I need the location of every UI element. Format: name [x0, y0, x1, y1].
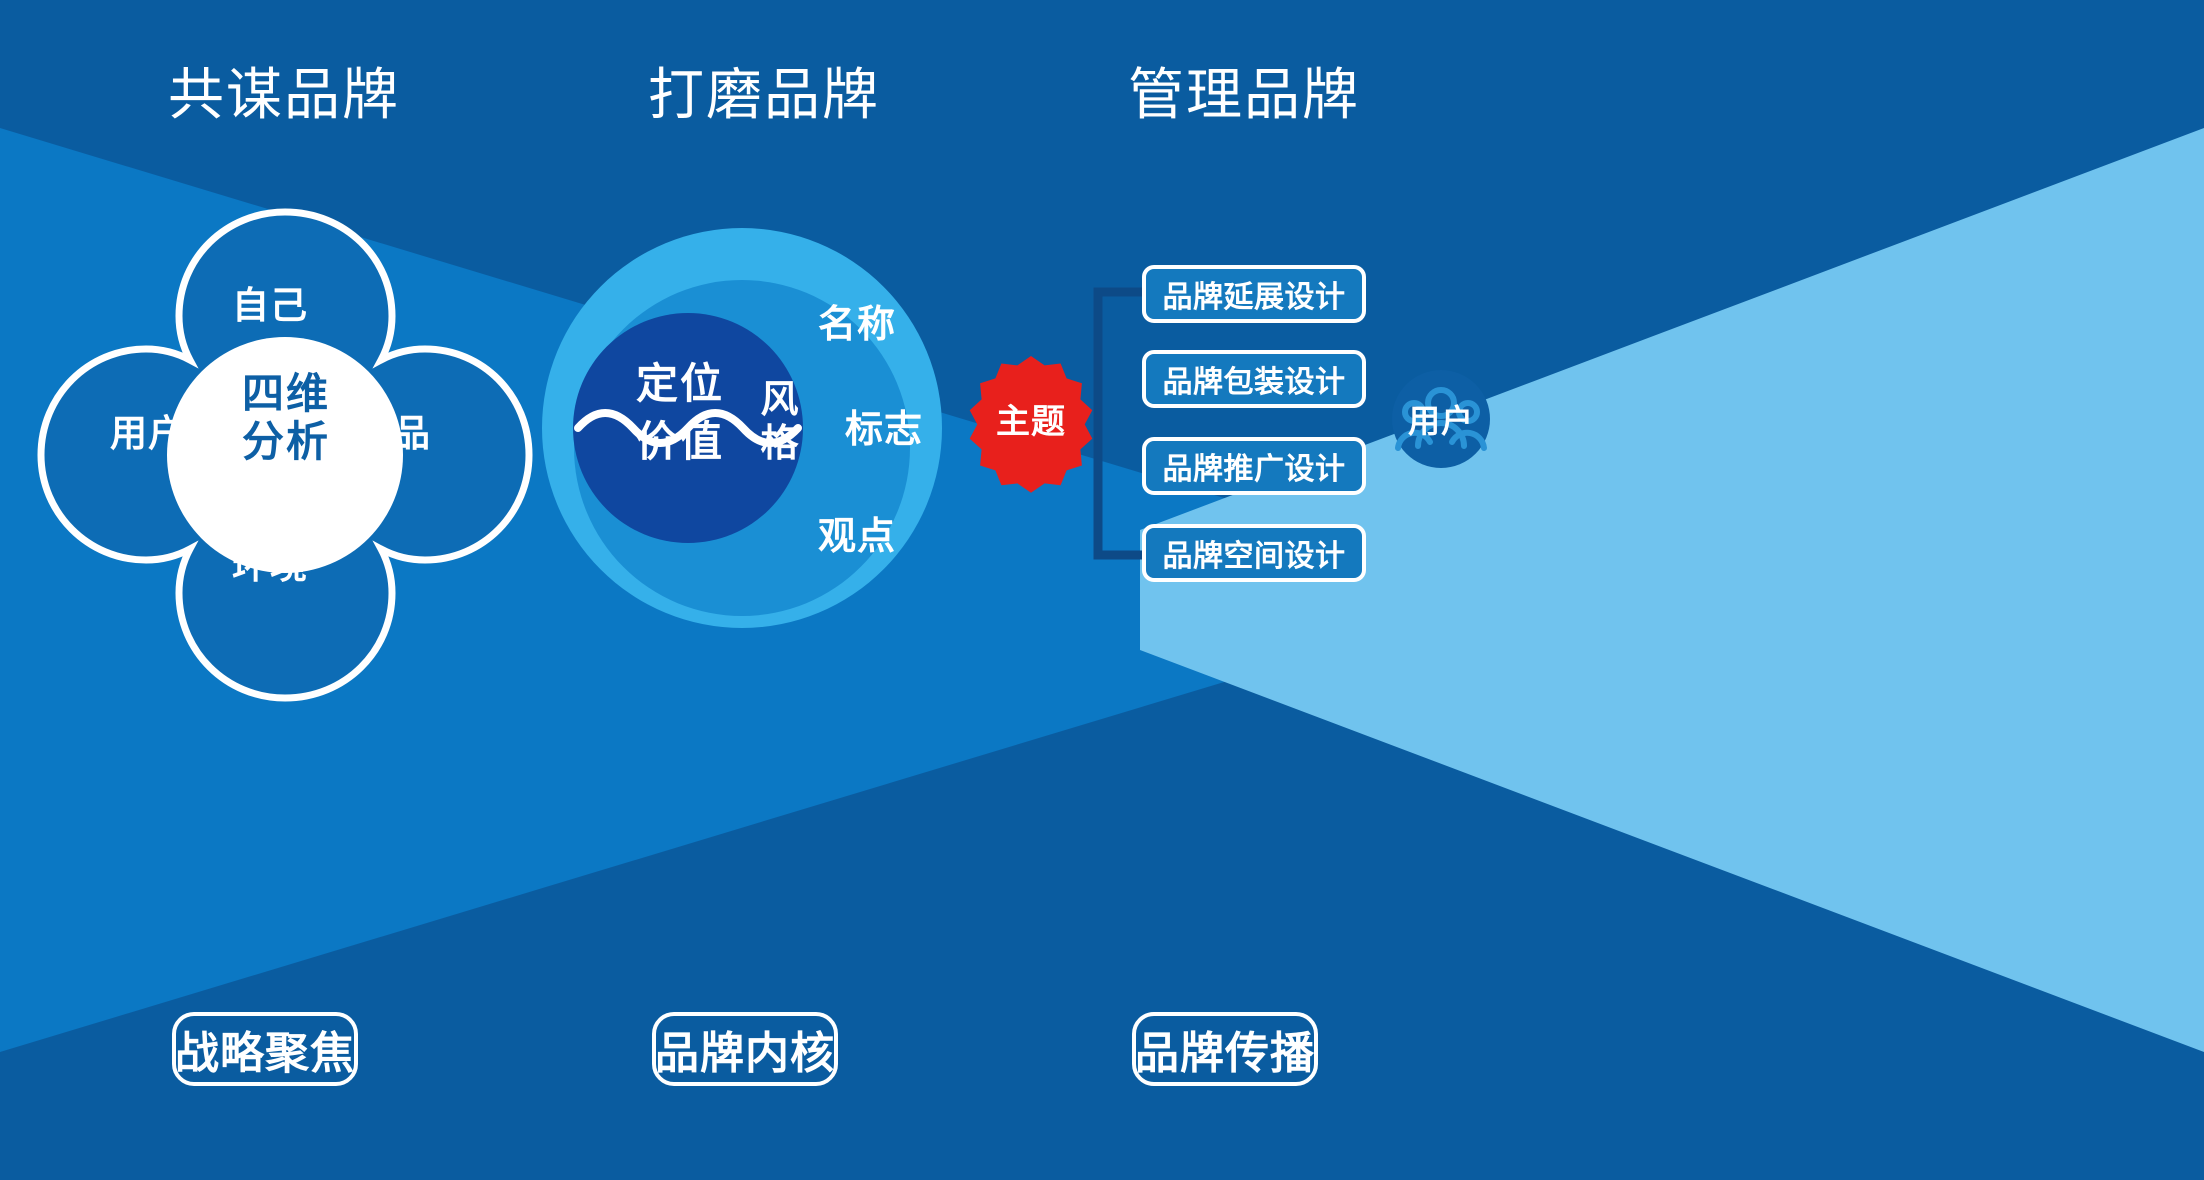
- infographic-canvas: 共谋品牌 打磨品牌 管理品牌 自己 用户 竞品 环境 四维 分析 定位 价值 风…: [0, 0, 2204, 1180]
- stage-title-3: 管理品牌: [1128, 50, 1360, 131]
- stage-title-1: 共谋品牌: [168, 50, 400, 131]
- clover-center-label: 四维 分析: [184, 370, 388, 464]
- output-box-brand-extension[interactable]: 品牌延展设计: [1142, 265, 1366, 323]
- brand-core-line-2: 价值: [600, 413, 760, 471]
- bottom-pill-brand-comms: 品牌传播: [1132, 1012, 1318, 1086]
- bottom-pill-strategy-focus: 战略聚焦: [172, 1012, 358, 1086]
- clover-center-line-2: 分析: [184, 418, 388, 466]
- output-box-brand-space[interactable]: 品牌空间设计: [1142, 524, 1366, 582]
- theme-badge: 主题: [976, 363, 1086, 473]
- brand-logo-label: 标志: [845, 398, 923, 453]
- clover-label-bottom: 环境: [232, 535, 308, 589]
- brand-core-line-1: 定位: [600, 355, 760, 413]
- audience-circle: 用户: [1392, 370, 1490, 468]
- brand-name-label: 名称: [818, 293, 896, 348]
- brand-style-label: 风格: [760, 378, 800, 466]
- output-box-brand-packaging[interactable]: 品牌包装设计: [1142, 350, 1366, 408]
- clover-center-line-1: 四维: [184, 370, 388, 418]
- brand-viewpoint-label: 观点: [818, 505, 896, 560]
- brand-core-label: 定位 价值: [600, 355, 760, 471]
- clover-label-left: 用户: [110, 403, 186, 457]
- background-graphics: [0, 0, 2204, 1180]
- theme-badge-label: 主题: [976, 363, 1086, 473]
- stage-title-2: 打磨品牌: [648, 50, 880, 131]
- audience-label: 用户: [1392, 370, 1490, 468]
- output-box-brand-promotion[interactable]: 品牌推广设计: [1142, 437, 1366, 495]
- clover-label-top: 自己: [232, 275, 308, 329]
- bottom-pill-brand-core: 品牌内核: [652, 1012, 838, 1086]
